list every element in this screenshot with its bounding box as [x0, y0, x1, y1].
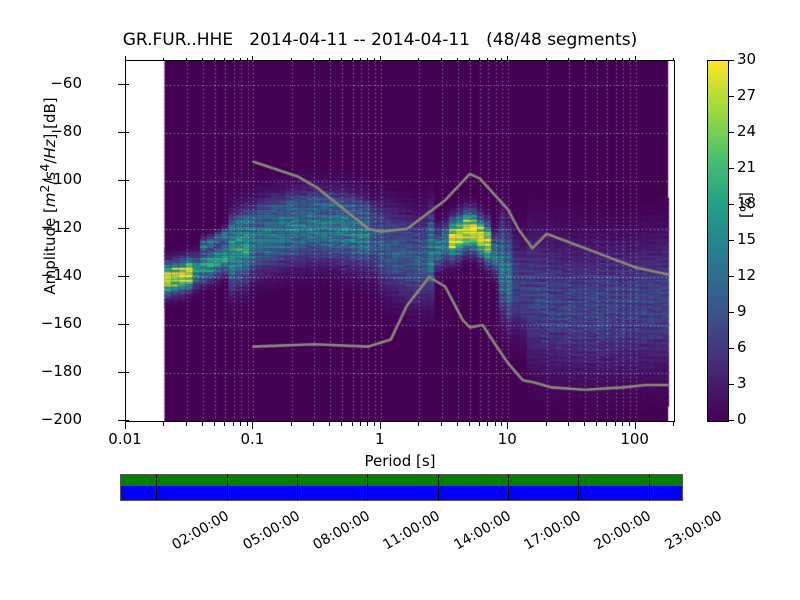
- colorbar-tick: [729, 96, 734, 97]
- coverage-timeline[interactable]: [120, 474, 683, 501]
- x-minor-tick-top: [479, 58, 480, 60]
- timeline-tick-label: 11:00:00: [381, 508, 443, 553]
- x-minor-tick: [418, 422, 419, 426]
- x-axis-title: Period [s]: [125, 452, 675, 470]
- x-minor-tick-top: [584, 58, 585, 60]
- y-tick-label: −60: [22, 74, 82, 92]
- x-minor-tick: [457, 422, 458, 426]
- y-tick: [118, 324, 125, 325]
- colorbar-tick: [729, 204, 734, 205]
- timeline-tick: [156, 475, 157, 500]
- timeline-tick-label: 05:00:00: [240, 508, 302, 553]
- y-tick: [118, 132, 125, 133]
- x-minor-tick: [622, 422, 623, 426]
- timeline-tick-label: 17:00:00: [521, 508, 583, 553]
- x-minor-tick-top: [469, 58, 470, 60]
- timeline-tick: [649, 475, 650, 500]
- y-tick-label: −200: [22, 410, 82, 428]
- x-minor-tick-top: [202, 58, 203, 60]
- colorbar-tick: [729, 384, 734, 385]
- x-minor-tick-top: [457, 58, 458, 60]
- x-minor-tick: [367, 422, 368, 426]
- x-minor-tick-top: [329, 58, 330, 60]
- x-minor-tick-top: [546, 58, 547, 60]
- x-minor-tick: [291, 422, 292, 426]
- x-minor-tick: [247, 422, 248, 426]
- timeline-tick: [227, 475, 228, 500]
- x-minor-tick-top: [313, 58, 314, 60]
- timeline-tick: [297, 475, 298, 500]
- timeline-tick-label: 23:00:00: [662, 508, 724, 553]
- x-minor-tick: [568, 422, 569, 426]
- x-minor-tick: [495, 422, 496, 426]
- colorbar-tick: [729, 132, 734, 133]
- x-minor-tick-top: [247, 58, 248, 60]
- x-minor-tick: [329, 422, 330, 426]
- x-minor-tick-top: [374, 58, 375, 60]
- x-minor-tick-top: [495, 58, 496, 60]
- x-minor-tick-top: [224, 58, 225, 60]
- timeline-tick: [578, 475, 579, 500]
- x-minor-tick: [233, 422, 234, 426]
- colorbar-tick-label: 24: [737, 122, 756, 140]
- x-minor-tick: [224, 422, 225, 426]
- x-tick-label: 10: [472, 430, 542, 448]
- x-minor-tick-top: [673, 58, 674, 60]
- x-minor-tick-top: [596, 58, 597, 60]
- y-tick-inner: [125, 84, 129, 85]
- colorbar-tick: [729, 240, 734, 241]
- y-tick-label: −80: [22, 122, 82, 140]
- x-minor-tick: [596, 422, 597, 426]
- colorbar-tick-label: 6: [737, 338, 747, 356]
- page-title: GR.FUR..HHE 2014-04-11 -- 2014-04-11 (48…: [0, 30, 760, 50]
- x-tick: [635, 422, 636, 429]
- x-tick-label: 0.1: [217, 430, 287, 448]
- x-minor-tick: [546, 422, 547, 426]
- x-minor-tick: [673, 422, 674, 426]
- x-minor-tick-top: [360, 58, 361, 60]
- timeline-tick-label: 02:00:00: [170, 508, 232, 553]
- x-minor-tick-top: [568, 58, 569, 60]
- colorbar-tick: [729, 420, 734, 421]
- y-tick: [118, 84, 125, 85]
- x-minor-tick-top: [240, 58, 241, 60]
- y-tick-label: −100: [22, 170, 82, 188]
- colorbar-tick-label: 15: [737, 230, 756, 248]
- y-tick: [118, 180, 125, 181]
- timeline-tick-label: 08:00:00: [310, 508, 372, 553]
- x-minor-tick: [615, 422, 616, 426]
- colorbar-tick-label: 27: [737, 86, 756, 104]
- timeline-tick: [508, 475, 509, 500]
- timeline-tick: [367, 475, 368, 500]
- x-minor-tick: [374, 422, 375, 426]
- x-tick-top: [252, 56, 253, 60]
- x-minor-tick-top: [606, 58, 607, 60]
- colorbar: [707, 60, 729, 422]
- y-tick-inner: [125, 228, 129, 229]
- x-minor-tick: [606, 422, 607, 426]
- x-tick: [125, 422, 126, 429]
- y-tick-label: −160: [22, 314, 82, 332]
- x-minor-tick: [352, 422, 353, 426]
- colorbar-tick-label: 21: [737, 158, 756, 176]
- x-minor-tick-top: [615, 58, 616, 60]
- x-minor-tick-top: [367, 58, 368, 60]
- x-minor-tick: [360, 422, 361, 426]
- x-minor-tick-top: [291, 58, 292, 60]
- y-tick: [118, 276, 125, 277]
- x-minor-tick: [487, 422, 488, 426]
- x-minor-tick: [441, 422, 442, 426]
- timeline-tick-label: 20:00:00: [592, 508, 654, 553]
- x-minor-tick: [163, 422, 164, 426]
- x-minor-tick-top: [418, 58, 419, 60]
- x-minor-tick: [501, 422, 502, 426]
- y-tick-label: −180: [22, 362, 82, 380]
- x-minor-tick-top: [186, 58, 187, 60]
- y-tick: [118, 420, 125, 421]
- x-tick-top: [380, 56, 381, 60]
- colorbar-tick: [729, 276, 734, 277]
- x-minor-tick-top: [163, 58, 164, 60]
- y-tick-label: −120: [22, 218, 82, 236]
- colorbar-tick: [729, 348, 734, 349]
- colorbar-tick-label: 30: [737, 50, 756, 68]
- x-tick: [507, 422, 508, 429]
- y-tick: [118, 372, 125, 373]
- x-minor-tick: [240, 422, 241, 426]
- colorbar-tick-label: 12: [737, 266, 756, 284]
- colorbar-tick-label: 9: [737, 302, 747, 320]
- x-tick-top: [507, 56, 508, 60]
- x-tick: [252, 422, 253, 429]
- x-tick: [380, 422, 381, 429]
- x-tick-label: 0.01: [90, 430, 160, 448]
- x-minor-tick: [584, 422, 585, 426]
- noise-model-curves-canvas: [126, 61, 674, 421]
- x-minor-tick-top: [341, 58, 342, 60]
- x-tick-top: [125, 56, 126, 60]
- y-tick-inner: [125, 420, 129, 421]
- x-minor-tick: [186, 422, 187, 426]
- x-minor-tick-top: [629, 58, 630, 60]
- y-tick-inner: [125, 180, 129, 181]
- x-minor-tick-top: [441, 58, 442, 60]
- x-minor-tick: [629, 422, 630, 426]
- x-minor-tick-top: [501, 58, 502, 60]
- x-tick-top: [635, 56, 636, 60]
- colorbar-tick-label: 3: [737, 374, 747, 392]
- colorbar-title: [%]: [737, 178, 755, 218]
- x-minor-tick: [341, 422, 342, 426]
- coverage-band-upper: [121, 475, 682, 486]
- x-minor-tick-top: [352, 58, 353, 60]
- x-minor-tick: [479, 422, 480, 426]
- x-minor-tick: [313, 422, 314, 426]
- psd-plot-area[interactable]: [125, 60, 675, 422]
- y-tick: [118, 228, 125, 229]
- x-minor-tick: [202, 422, 203, 426]
- ppsd-figure: GR.FUR..HHE 2014-04-11 -- 2014-04-11 (48…: [0, 0, 800, 600]
- timeline-tick-label: 14:00:00: [451, 508, 513, 553]
- colorbar-tick: [729, 312, 734, 313]
- y-tick-inner: [125, 372, 129, 373]
- x-minor-tick: [469, 422, 470, 426]
- timeline-tick: [438, 475, 439, 500]
- x-tick-label: 1: [345, 430, 415, 448]
- colorbar-tick: [729, 168, 734, 169]
- x-minor-tick-top: [622, 58, 623, 60]
- y-tick-inner: [125, 276, 129, 277]
- x-minor-tick-top: [233, 58, 234, 60]
- y-tick-inner: [125, 132, 129, 133]
- y-tick-inner: [125, 324, 129, 325]
- colorbar-tick-label: 0: [737, 410, 747, 428]
- colorbar-tick: [729, 60, 734, 61]
- x-minor-tick: [214, 422, 215, 426]
- x-tick-label: 100: [600, 430, 670, 448]
- y-axis-title: Amplitude [m2/s4/Hz] [dB]: [37, 56, 59, 336]
- x-minor-tick-top: [487, 58, 488, 60]
- x-minor-tick-top: [214, 58, 215, 60]
- y-tick-label: −140: [22, 266, 82, 284]
